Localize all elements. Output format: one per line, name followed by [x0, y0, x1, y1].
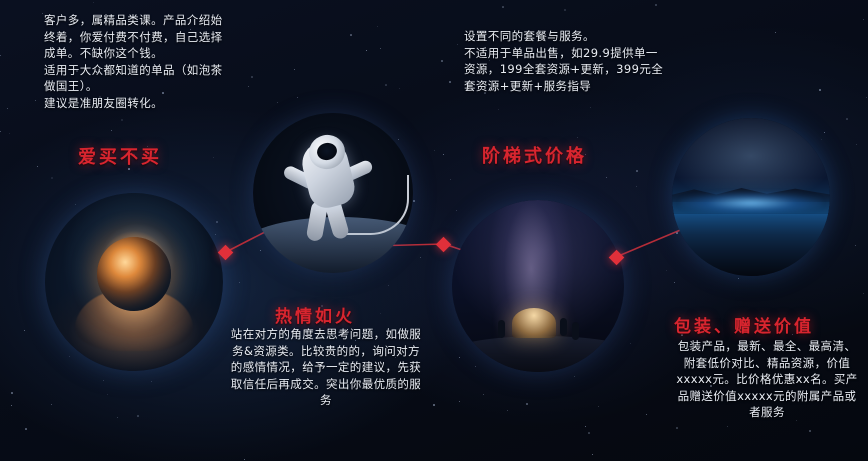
aurora-glow	[680, 192, 822, 214]
section-body-reqing-ruhuo: 站在对方的角度去思考问题，如做服务&资源类。比较贵的的，询问对方的感情情况，给予…	[228, 326, 424, 409]
image-astronaut-spacewalk	[253, 113, 413, 273]
camper-figure	[560, 318, 567, 336]
planet-shape	[97, 237, 171, 311]
section-heading-baozhuang: 包装、赠送价值	[674, 312, 814, 337]
marker-2	[436, 237, 452, 253]
image-milky-way-campers	[452, 200, 624, 372]
section-body-jietishi-jiage: 设置不同的套餐与服务。 不适用于单品出售，如29.9提供单一资源，199全套资源…	[464, 28, 664, 94]
image-aurora-over-lake	[672, 118, 830, 276]
lake-water	[672, 214, 830, 276]
infographic-canvas: 客户多，属精品类课。产品介绍始终着，你爱付费不付费，自己选择成单。不缺你这个钱。…	[0, 0, 868, 461]
marker-1	[218, 245, 234, 261]
section-body-baozhuang: 包装产品，最新、最全、最高清、附套低价对比、精品资源，价值xxxxx元。比价格优…	[672, 338, 862, 421]
glowing-tent	[512, 308, 556, 338]
image-hand-holding-glowing-planet	[45, 193, 223, 371]
section-body-aimaibumai: 客户多，属精品类课。产品介绍始终着，你爱付费不付费，自己选择成单。不缺你这个钱。…	[44, 12, 234, 111]
hill-silhouette	[452, 336, 624, 372]
section-heading-jietishi-jiage: 阶梯式价格	[482, 142, 587, 168]
camper-figure	[572, 322, 579, 340]
camper-figure	[498, 320, 505, 338]
section-heading-aimaibumai: 爱买不买	[78, 143, 162, 169]
section-heading-reqing-ruhuo: 热情如火	[275, 302, 355, 327]
